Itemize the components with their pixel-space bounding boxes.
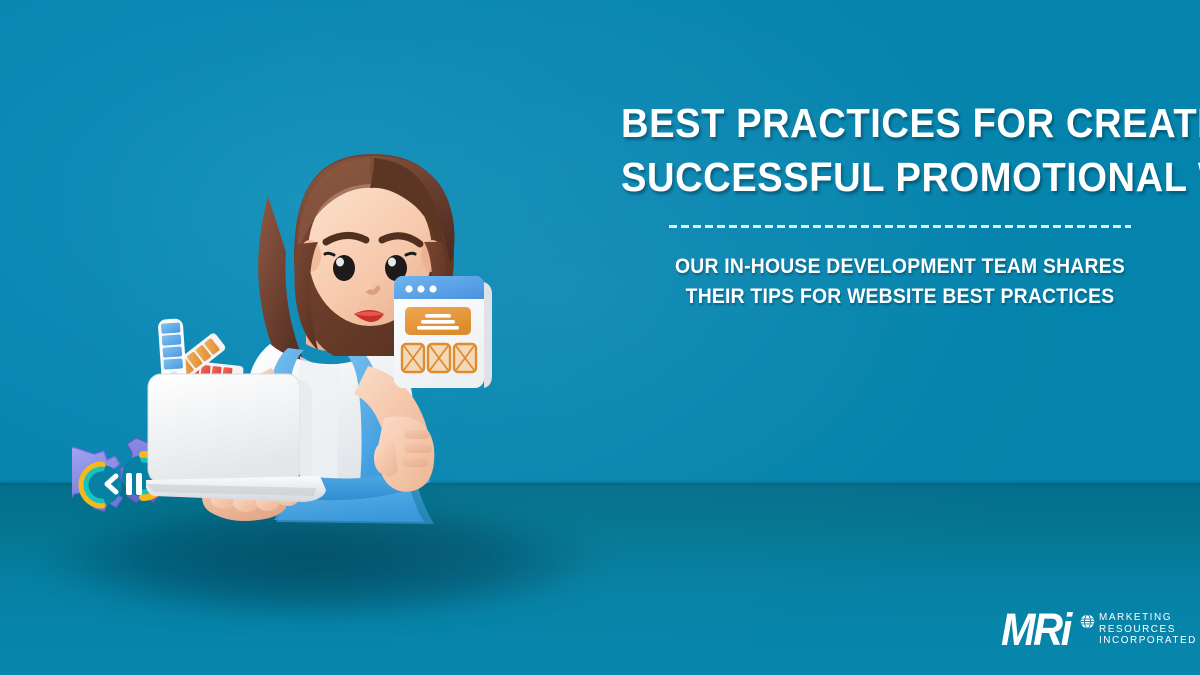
mri-logo[interactable]: MRi MARKETING RESOURCES INCORPORATED xyxy=(998,607,1200,652)
text-panel: BEST PRACTICES FOR CREATING SUCCESSFUL P… xyxy=(600,96,1200,311)
subhead-line-2: THEIR TIPS FOR WEBSITE BEST PRACTICES xyxy=(630,281,1170,311)
character-illustration xyxy=(0,0,600,675)
dashed-divider xyxy=(669,225,1131,228)
headline-line-1: BEST PRACTICES FOR CREATING xyxy=(621,96,1179,150)
globe-icon xyxy=(1080,614,1095,629)
logo-word-incorporated: INCORPORATED xyxy=(1099,635,1197,647)
logo-wordmark: MRi xyxy=(1001,607,1070,652)
promo-banner: BEST PRACTICES FOR CREATING SUCCESSFUL P… xyxy=(0,0,1200,675)
subhead-line-1: OUR IN-HOUSE DEVELOPMENT TEAM SHARES xyxy=(630,251,1170,281)
headline-line-2: SUCCESSFUL PROMOTIONAL WEBSITES xyxy=(621,150,1179,204)
browser-window-card xyxy=(392,272,492,394)
laptop xyxy=(146,372,346,507)
logo-word-marketing: MARKETING xyxy=(1099,612,1197,624)
